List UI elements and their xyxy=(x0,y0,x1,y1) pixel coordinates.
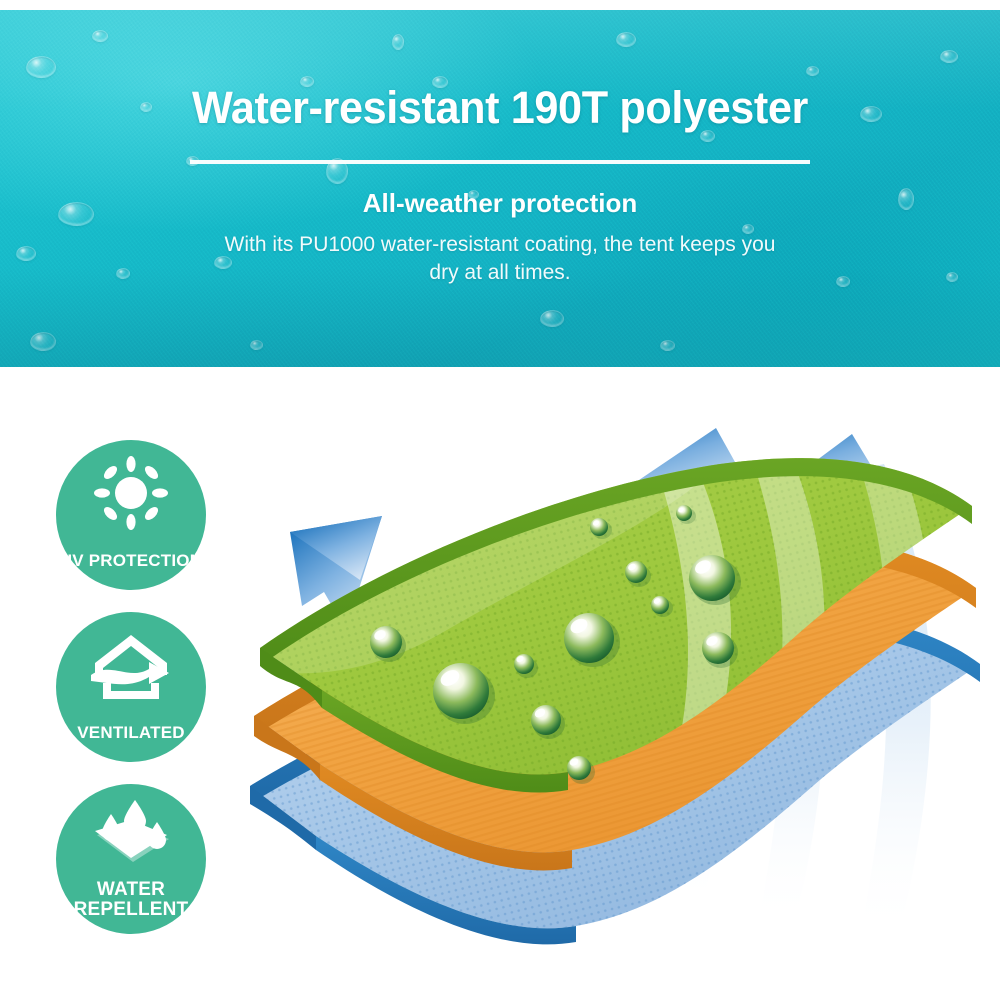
hero-subtitle: All-weather protection xyxy=(0,188,1000,219)
badge-label: WATER REPELLENT xyxy=(46,880,216,920)
page-title: Water-resistant 190T polyester xyxy=(20,82,980,134)
badge-ventilated[interactable]: VENTILATED xyxy=(56,612,206,762)
title-divider xyxy=(190,160,810,164)
badge-label: VENTILATED xyxy=(46,724,216,742)
badge-uv-protection[interactable]: UV PROTECTION xyxy=(56,440,206,590)
three-layer-fabric-diagram xyxy=(250,420,1000,980)
hero-banner: Water-resistant 190T polyester All-weath… xyxy=(0,10,1000,367)
fabric-droplets-icon xyxy=(89,800,173,862)
hero-description: With its PU1000 water-resistant coating,… xyxy=(220,231,780,286)
feature-badge-list: UV PROTECTION VENTILATED xyxy=(56,440,232,956)
house-airflow-icon xyxy=(89,634,173,696)
sun-icon xyxy=(89,462,173,524)
badge-water-repellent[interactable]: WATER REPELLENT xyxy=(56,784,206,934)
badge-label: UV PROTECTION xyxy=(46,552,216,570)
